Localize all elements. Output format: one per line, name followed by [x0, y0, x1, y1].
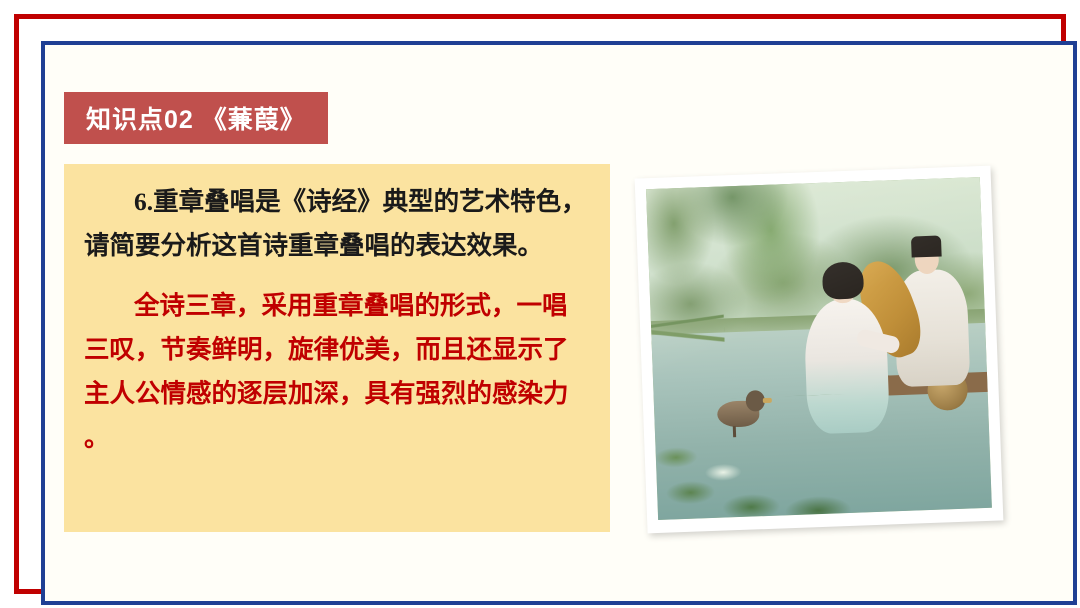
illustration-image	[646, 177, 992, 520]
content-card: 6.重章叠唱是《诗经》典型的艺术特色，请简要分析这首诗重章叠唱的表达效果。 全诗…	[64, 164, 610, 532]
male-hat	[911, 236, 942, 257]
reeds-icon	[650, 286, 727, 381]
question-text: 6.重章叠唱是《诗经》典型的艺术特色，请简要分析这首诗重章叠唱的表达效果。	[84, 180, 590, 268]
section-title-banner: 知识点02 《蒹葭》	[64, 92, 328, 144]
answer-text: 全诗三章，采用重章叠唱的形式，一唱三叹，节奏鲜明，旋律优美，而且还显示了主人公情…	[84, 284, 590, 460]
bird-beak	[762, 398, 771, 403]
water-lilies	[654, 389, 992, 520]
water-bird-icon	[717, 390, 769, 435]
bird-leg	[733, 426, 736, 437]
female-hair	[822, 261, 864, 300]
page-title: 知识点02 《蒹葭》	[86, 100, 306, 136]
slide-canvas: 知识点02 《蒹葭》 6.重章叠唱是《诗经》典型的艺术特色，请简要分析这首诗重章…	[0, 0, 1080, 608]
bird-head	[745, 390, 765, 411]
illustration-photo-frame	[635, 166, 1004, 534]
